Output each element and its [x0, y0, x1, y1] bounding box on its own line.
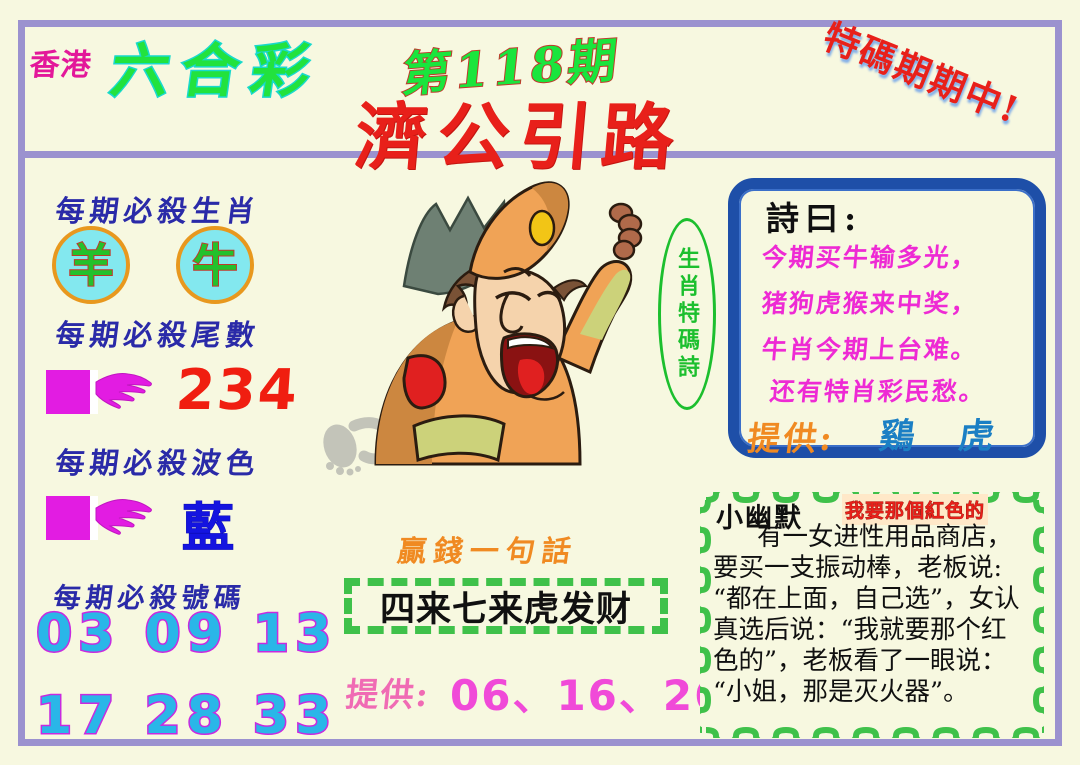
humor-line-1: 有一女进性用品商店， [713, 522, 1033, 553]
supply-numbers: 06、16、26 [450, 662, 725, 723]
poem-line-4: 还有特肖彩民愁。 [768, 372, 987, 408]
region-label: 香港 [28, 40, 95, 84]
humor-body: 有一女进性用品商店， 要买一支振动棒，老板说: “都在上面，自己选”，女认 真选… [713, 522, 1033, 708]
poem-line-2: 猪狗虎猴来中奖， [760, 284, 979, 320]
poem-vertical-label-text: 生肖特碼詩 [676, 247, 698, 382]
poem-credit-value: 鷄 虎 [877, 408, 1013, 459]
poem-line-3: 牛肖今期上台难。 [760, 330, 979, 366]
slogan-box: 四来七来虎发财 [344, 578, 668, 634]
slogan-text: 四来七来虎发财 [380, 581, 632, 632]
humor-line-6: “小姐，那是灭火器”。 [713, 677, 1033, 708]
zodiac-char-1: 羊 [68, 243, 113, 288]
zodiac-circle-2: 牛 [176, 226, 254, 304]
tail-section-label: 每期必殺尾數 [53, 312, 262, 354]
poster-page: 香港 六合彩 第118期 濟公引路 特碼期期中! 每期必殺生肖 羊 牛 每期必殺… [0, 0, 1080, 765]
color-value: 藍 [182, 486, 234, 561]
lucky-numbers-row-2: 17 28 33 [36, 686, 337, 746]
pointing-hand-icon-1 [46, 366, 156, 418]
pointing-hand-icon-2 [46, 492, 156, 544]
humor-line-4: 真选后说：“我就要那个红 [713, 615, 1033, 646]
color-section-label: 每期必殺波色 [53, 440, 262, 482]
zodiac-circle-1: 羊 [52, 226, 130, 304]
humor-line-5: 色的”，老板看了一眼说： [713, 646, 1033, 677]
zodiac-circles: 羊 牛 [52, 226, 254, 304]
poem-line-1: 今期买牛输多光， [760, 238, 979, 274]
poem-title: 詩曰: [766, 192, 862, 240]
zodiac-char-2: 牛 [192, 243, 237, 288]
lottery-name: 六合彩 [106, 24, 328, 108]
poem-vertical-label: 生肖特碼詩 [658, 218, 716, 410]
tail-value: 234 [174, 358, 301, 423]
lucky-numbers-row-1: 03 09 13 [36, 604, 337, 664]
humor-line-3: “都在上面，自己选”，女认 [713, 584, 1033, 615]
jigong-monk-cartoon [318, 168, 668, 498]
slogan-title: 贏錢一句話 [395, 528, 581, 570]
humor-line-2: 要买一支振动棒，老板说: [713, 553, 1033, 584]
supply-label: 提供: [343, 668, 432, 716]
humor-tag: 我要那個紅色的 [842, 494, 988, 525]
poem-credit-label: 提供: [745, 412, 838, 460]
zodiac-section-label: 每期必殺生肖 [53, 188, 262, 230]
